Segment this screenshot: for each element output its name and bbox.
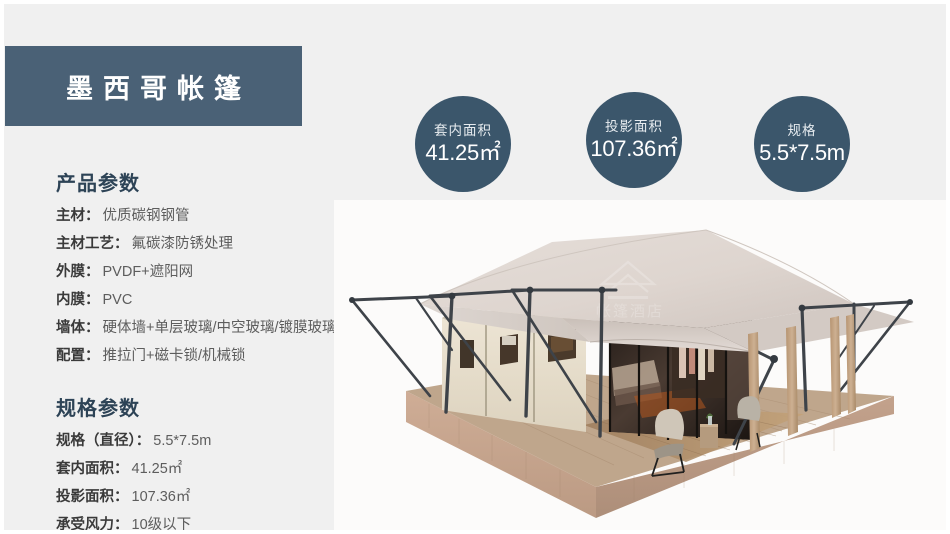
stat-badge-dimension[interactable]: 规格 5.5*7.5m bbox=[754, 96, 850, 192]
spec-label: 配置： bbox=[56, 346, 100, 366]
spec-value: 5.5*7.5m bbox=[153, 431, 211, 451]
badge-label: 投影面积 bbox=[605, 119, 663, 135]
spec-label: 承受风力： bbox=[56, 515, 129, 534]
spec-label: 内膜： bbox=[56, 290, 100, 310]
stat-badge-projected-area[interactable]: 投影面积 107.36㎡ bbox=[586, 92, 682, 188]
page-root: 墨西哥帐篷 产品参数 主材： 优质碳钢钢管 主材工艺： 氟碳漆防锈处理 外膜： … bbox=[0, 0, 950, 534]
spec-value: 107.36㎡ bbox=[132, 487, 191, 507]
product-section-heading: 产品参数 bbox=[56, 167, 386, 196]
stat-badge-interior-area[interactable]: 套内面积 41.25㎡ bbox=[415, 96, 511, 192]
spec-label: 主材： bbox=[56, 206, 100, 226]
spec-value: PVDF+遮阳网 bbox=[103, 262, 194, 282]
page-title: 墨西哥帐篷 bbox=[56, 67, 251, 106]
verandah-column-1 bbox=[748, 332, 760, 452]
svg-text:帐篷酒店: 帐篷酒店 bbox=[596, 302, 664, 320]
spec-label: 主材工艺： bbox=[56, 234, 129, 254]
spec-value: 推拉门+磁卡锁/机械锁 bbox=[103, 346, 246, 366]
spec-label: 墙体： bbox=[56, 318, 100, 338]
spec-label: 投影面积： bbox=[56, 487, 129, 507]
spec-value: 硬体墙+单层玻璃/中空玻璃/镀膜玻璃 bbox=[103, 318, 337, 338]
spec-value: PVC bbox=[103, 290, 133, 310]
spec-value: 41.25㎡ bbox=[132, 459, 183, 479]
spec-value: 氟碳漆防锈处理 bbox=[132, 234, 234, 254]
spec-value: 10级以下 bbox=[132, 515, 192, 534]
badge-value: 41.25㎡ bbox=[425, 141, 500, 165]
spec-label: 规格（直径）： bbox=[56, 431, 150, 451]
tent-render-image: 帐篷酒店 bbox=[334, 200, 950, 534]
title-banner: 墨西哥帐篷 bbox=[5, 46, 302, 126]
badge-label: 规格 bbox=[788, 123, 817, 139]
badge-value: 107.36㎡ bbox=[590, 137, 677, 161]
spec-label: 外膜： bbox=[56, 262, 100, 282]
spec-value: 优质碳钢钢管 bbox=[103, 206, 190, 226]
badge-value: 5.5*7.5m bbox=[759, 141, 845, 165]
badge-label: 套内面积 bbox=[434, 123, 492, 139]
spec-label: 套内面积： bbox=[56, 459, 129, 479]
verandah-column-2 bbox=[786, 326, 798, 436]
